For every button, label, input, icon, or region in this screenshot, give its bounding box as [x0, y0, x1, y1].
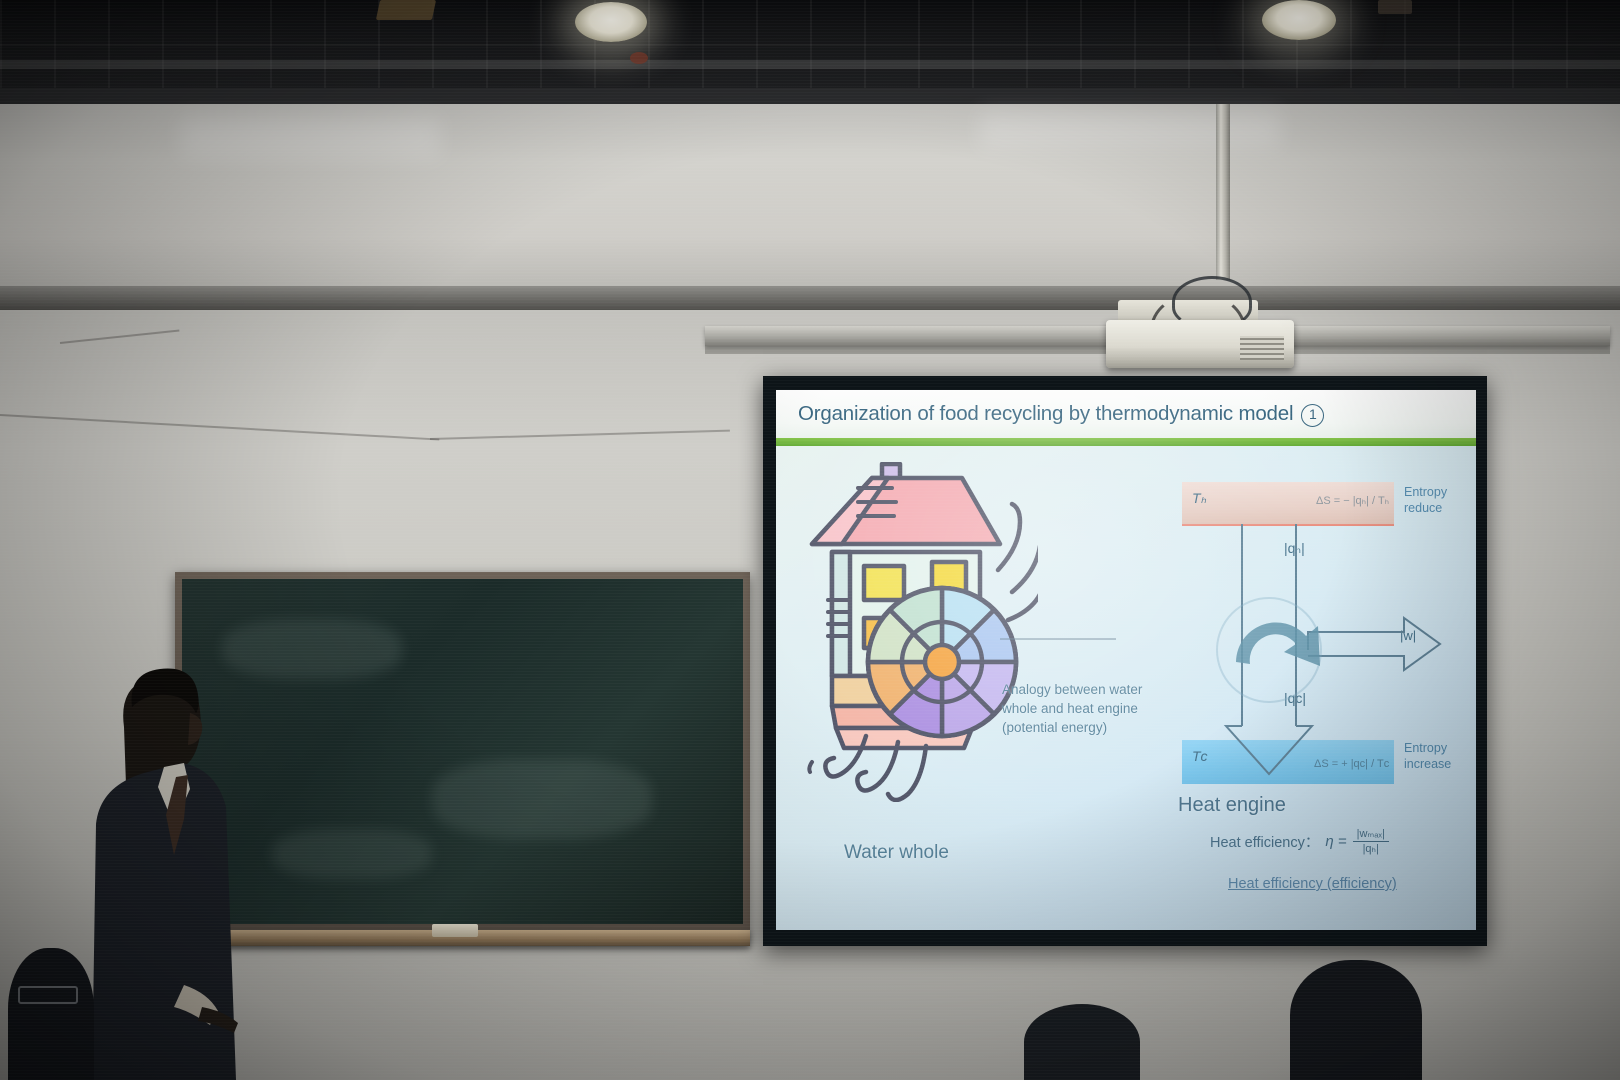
audience-head-right	[1290, 960, 1422, 1080]
wall-trim-band	[0, 286, 1620, 312]
lecture-room-photo: Organization of food recycling by thermo…	[0, 0, 1620, 1080]
watermill-house-illustration	[802, 462, 1038, 802]
eyeglasses-icon	[18, 986, 78, 1004]
presenter-figure	[72, 655, 242, 1080]
heat-efficiency-formula: Heat efficiency： η = |wₘₐₓ| |qₕ|	[1210, 828, 1389, 855]
projector-mount-pole	[1216, 104, 1230, 280]
ceiling-light-right	[1262, 0, 1336, 40]
page-title: Organization of food recycling by thermo…	[776, 402, 1324, 427]
cycle-arrow-icon	[1236, 622, 1320, 666]
heat-engine-title: Heat engine	[1178, 794, 1286, 817]
blackboard-eraser	[432, 924, 478, 937]
heat-efficiency-link[interactable]: Heat efficiency (efficiency)	[1228, 876, 1397, 892]
ceiling-grid-tiles	[0, 0, 1620, 92]
heat-efficiency-label: Heat efficiency：	[1210, 831, 1319, 852]
efficiency-fraction: |wₘₐₓ| |qₕ|	[1353, 828, 1389, 855]
upper-wall	[0, 104, 1620, 294]
efficiency-denominator: |qₕ|	[1359, 842, 1383, 855]
audience-head-center	[1024, 1004, 1140, 1080]
ceiling-fixture-c	[1378, 0, 1412, 14]
analogy-note: Analogy between water whole and heat eng…	[1002, 680, 1174, 737]
audience-head-left	[8, 948, 94, 1080]
ceiling-beam	[0, 88, 1620, 104]
watermill-caption: Water whole	[844, 842, 949, 864]
slide-title-bar: Organization of food recycling by thermo…	[776, 390, 1476, 438]
presentation-slide[interactable]: Organization of food recycling by thermo…	[776, 390, 1476, 930]
projector-vent-icon	[1240, 336, 1284, 360]
analogy-divider	[1000, 638, 1116, 640]
efficiency-numerator: |wₘₐₓ|	[1353, 828, 1389, 842]
ceiling	[0, 0, 1620, 100]
slide-accent-bar	[776, 438, 1476, 446]
slide-number-badge: 1	[1301, 404, 1324, 427]
eta-symbol: η =	[1325, 833, 1346, 850]
slide-title-text: Organization of food recycling by thermo…	[798, 402, 1293, 425]
blackboard-surface	[182, 579, 743, 924]
ceiling-fixture-b	[630, 52, 648, 64]
ceiling-fixture-a	[376, 0, 436, 20]
ceiling-pipe	[0, 60, 1620, 69]
ceiling-light-left	[575, 2, 647, 42]
